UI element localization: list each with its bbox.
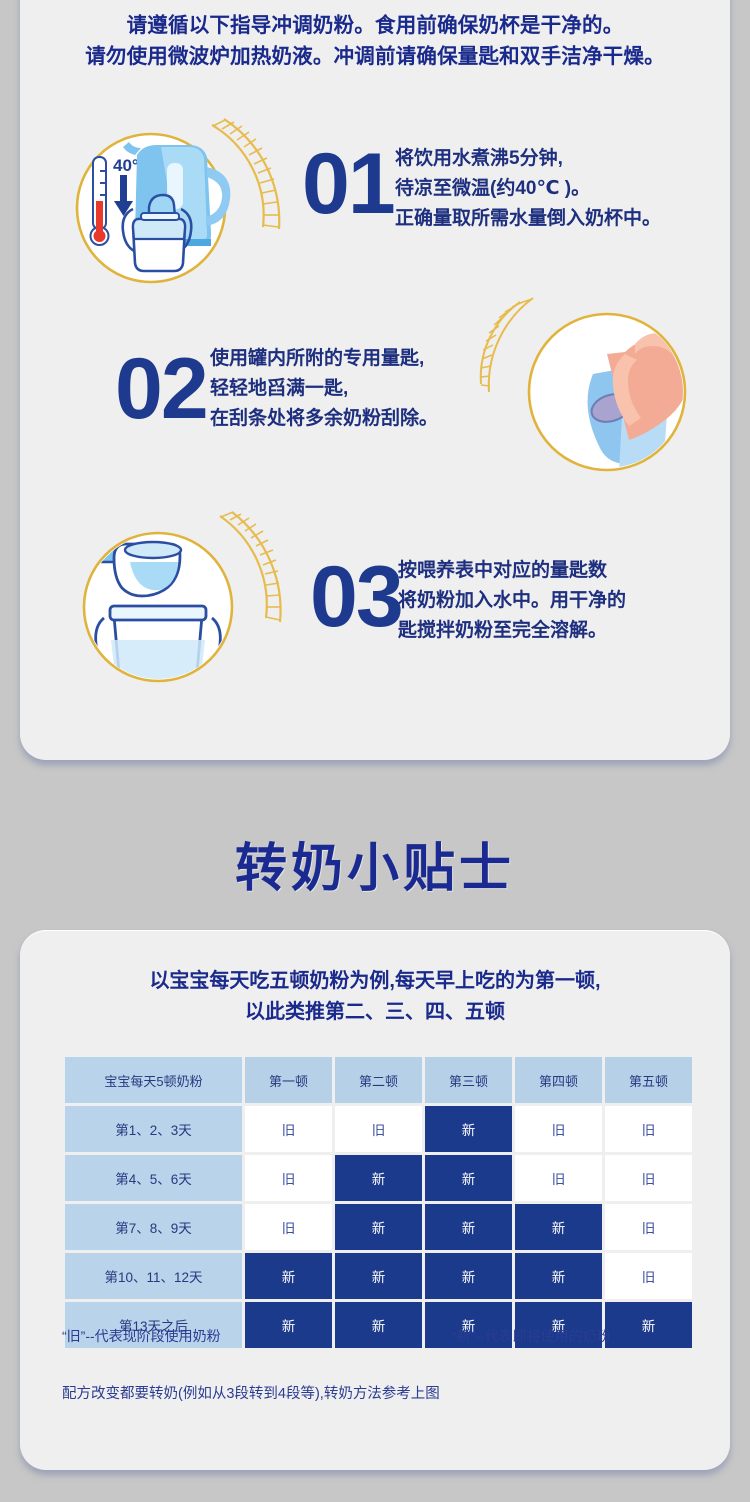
svg-text:40°: 40°	[113, 156, 139, 175]
table-cell-1-1: 新	[335, 1155, 422, 1201]
step-01-number: 01	[302, 141, 394, 227]
step-03-line-1: 按喂养表中对应的量匙数	[398, 556, 626, 586]
step-03-line-3: 匙搅拌奶粉至完全溶解。	[398, 616, 626, 646]
table-row-label-1: 第4、5、6天	[65, 1155, 242, 1201]
table-cell-1-0: 旧	[245, 1155, 332, 1201]
transition-tips-card: 以宝宝每天吃五顿奶粉为例,每天早上吃的为第一顿, 以此类推第二、三、四、五顿 宝…	[20, 930, 730, 1470]
table-cell-0-1: 旧	[335, 1106, 422, 1152]
table-cell-1-4: 旧	[605, 1155, 692, 1201]
step-03-row: 03 按喂养表中对应的量匙数 将奶粉加入水中。用干净的 匙搅拌奶粉至完全溶解。	[20, 506, 730, 696]
step-01-line-3: 正确量取所需水量倒入奶杯中。	[395, 204, 661, 234]
tips-lead-line-2: 以此类推第二、三、四、五顿	[20, 997, 730, 1028]
step-01-row: 40°	[20, 109, 730, 299]
tips-lead-text: 以宝宝每天吃五顿奶粉为例,每天早上吃的为第一顿, 以此类推第二、三、四、五顿	[20, 966, 730, 1028]
step-02-line-3: 在刮条处将多余奶粉刮除。	[210, 404, 438, 434]
step-03-number: 03	[310, 554, 402, 640]
table-cell-0-2: 新	[425, 1106, 512, 1152]
table-cell-3-1: 新	[335, 1253, 422, 1299]
table-cell-2-1: 新	[335, 1204, 422, 1250]
step-02-line-1: 使用罐内所附的专用量匙,	[210, 344, 438, 374]
step-03-text: 按喂养表中对应的量匙数 将奶粉加入水中。用干净的 匙搅拌奶粉至完全溶解。	[398, 556, 626, 646]
table-col-header-3: 第三顿	[425, 1057, 512, 1103]
table-row-label-2: 第7、8、9天	[65, 1204, 242, 1250]
table-row: 第1、2、3天 旧 旧 新 旧 旧	[65, 1106, 692, 1152]
table-cell-1-2: 新	[425, 1155, 512, 1201]
table-header-row: 宝宝每天5顿奶粉 第一顿 第二顿 第三顿 第四顿 第五顿	[65, 1057, 692, 1103]
step-02-row: 02 使用罐内所附的专用量匙, 轻轻地舀满一匙, 在刮条处将多余奶粉刮除。	[20, 296, 730, 486]
table-cell-2-2: 新	[425, 1204, 512, 1250]
step-01-line-1: 将饮用水煮沸5分钟,	[395, 144, 661, 174]
hand-scoop-levelling-icon	[475, 296, 705, 481]
legend-old-powder: “旧”--代表现阶段使用奶粉	[62, 1326, 221, 1346]
legend-new-powder: “新”--代表即将使用的奶粉	[452, 1326, 611, 1346]
table-row-label-0: 第1、2、3天	[65, 1106, 242, 1152]
table-cell-1-3: 旧	[515, 1155, 602, 1201]
step-03-line-2: 将奶粉加入水中。用干净的	[398, 586, 626, 616]
table-row-label-3: 第10、11、12天	[65, 1253, 242, 1299]
step-02-text: 使用罐内所附的专用量匙, 轻轻地舀满一匙, 在刮条处将多余奶粉刮除。	[210, 344, 438, 434]
step-02-line-2: 轻轻地舀满一匙,	[210, 374, 438, 404]
table-cell-3-3: 新	[515, 1253, 602, 1299]
table-row: 第4、5、6天 旧 新 新 旧 旧	[65, 1155, 692, 1201]
table-col-header-2: 第二顿	[335, 1057, 422, 1103]
table-cell-4-0: 新	[245, 1302, 332, 1348]
table-cell-3-2: 新	[425, 1253, 512, 1299]
table-col-header-4: 第四顿	[515, 1057, 602, 1103]
intro-line-1: 请遵循以下指导冲调奶粉。食用前确保奶杯是干净的。	[20, 10, 730, 41]
step-02-number: 02	[115, 346, 207, 432]
table-col-header-0: 宝宝每天5顿奶粉	[65, 1057, 242, 1103]
step-01-line-2: 待凉至微温(约40℃ )。	[395, 174, 661, 204]
table-row: 第7、8、9天 旧 新 新 新 旧	[65, 1204, 692, 1250]
tips-lead-line-1: 以宝宝每天吃五顿奶粉为例,每天早上吃的为第一顿,	[20, 966, 730, 997]
preparation-steps-card: 【4】冲调建议 / 冲调说明 请遵循以下指导冲调奶粉。食用前确保奶杯是干净的。 …	[20, 0, 730, 760]
table-cell-4-4: 新	[605, 1302, 692, 1348]
table-col-header-1: 第一顿	[245, 1057, 332, 1103]
page-root: 【4】冲调建议 / 冲调说明 请遵循以下指导冲调奶粉。食用前确保奶杯是干净的。 …	[0, 0, 750, 1502]
table-cell-2-0: 旧	[245, 1204, 332, 1250]
table-cell-4-1: 新	[335, 1302, 422, 1348]
table-row: 第10、11、12天 新 新 新 新 旧	[65, 1253, 692, 1299]
intro-text: 请遵循以下指导冲调奶粉。食用前确保奶杯是干净的。 请勿使用微波炉加热奶液。冲调前…	[20, 10, 730, 72]
table-cell-0-4: 旧	[605, 1106, 692, 1152]
table-cell-2-4: 旧	[605, 1204, 692, 1250]
step-01-text: 将饮用水煮沸5分钟, 待凉至微温(约40℃ )。 正确量取所需水量倒入奶杯中。	[395, 144, 661, 234]
milk-transition-table: 宝宝每天5顿奶粉 第一顿 第二顿 第三顿 第四顿 第五顿 第1、2、3天 旧 旧…	[62, 1054, 695, 1351]
scoop-into-cup-icon	[80, 510, 310, 695]
table-cell-2-3: 新	[515, 1204, 602, 1250]
table-cell-0-0: 旧	[245, 1106, 332, 1152]
table-cell-0-3: 旧	[515, 1106, 602, 1152]
table-cell-3-4: 旧	[605, 1253, 692, 1299]
intro-line-2: 请勿使用微波炉加热奶液。冲调前请确保量匙和双手洁净干燥。	[20, 41, 730, 72]
kettle-thermometer-bottle-icon: 40°	[75, 115, 305, 300]
footnote-text: 配方改变都要转奶(例如从3段转到4段等),转奶方法参考上图	[62, 1382, 440, 1403]
section-title: 转奶小贴士	[0, 826, 750, 901]
table-cell-3-0: 新	[245, 1253, 332, 1299]
table-col-header-5: 第五顿	[605, 1057, 692, 1103]
